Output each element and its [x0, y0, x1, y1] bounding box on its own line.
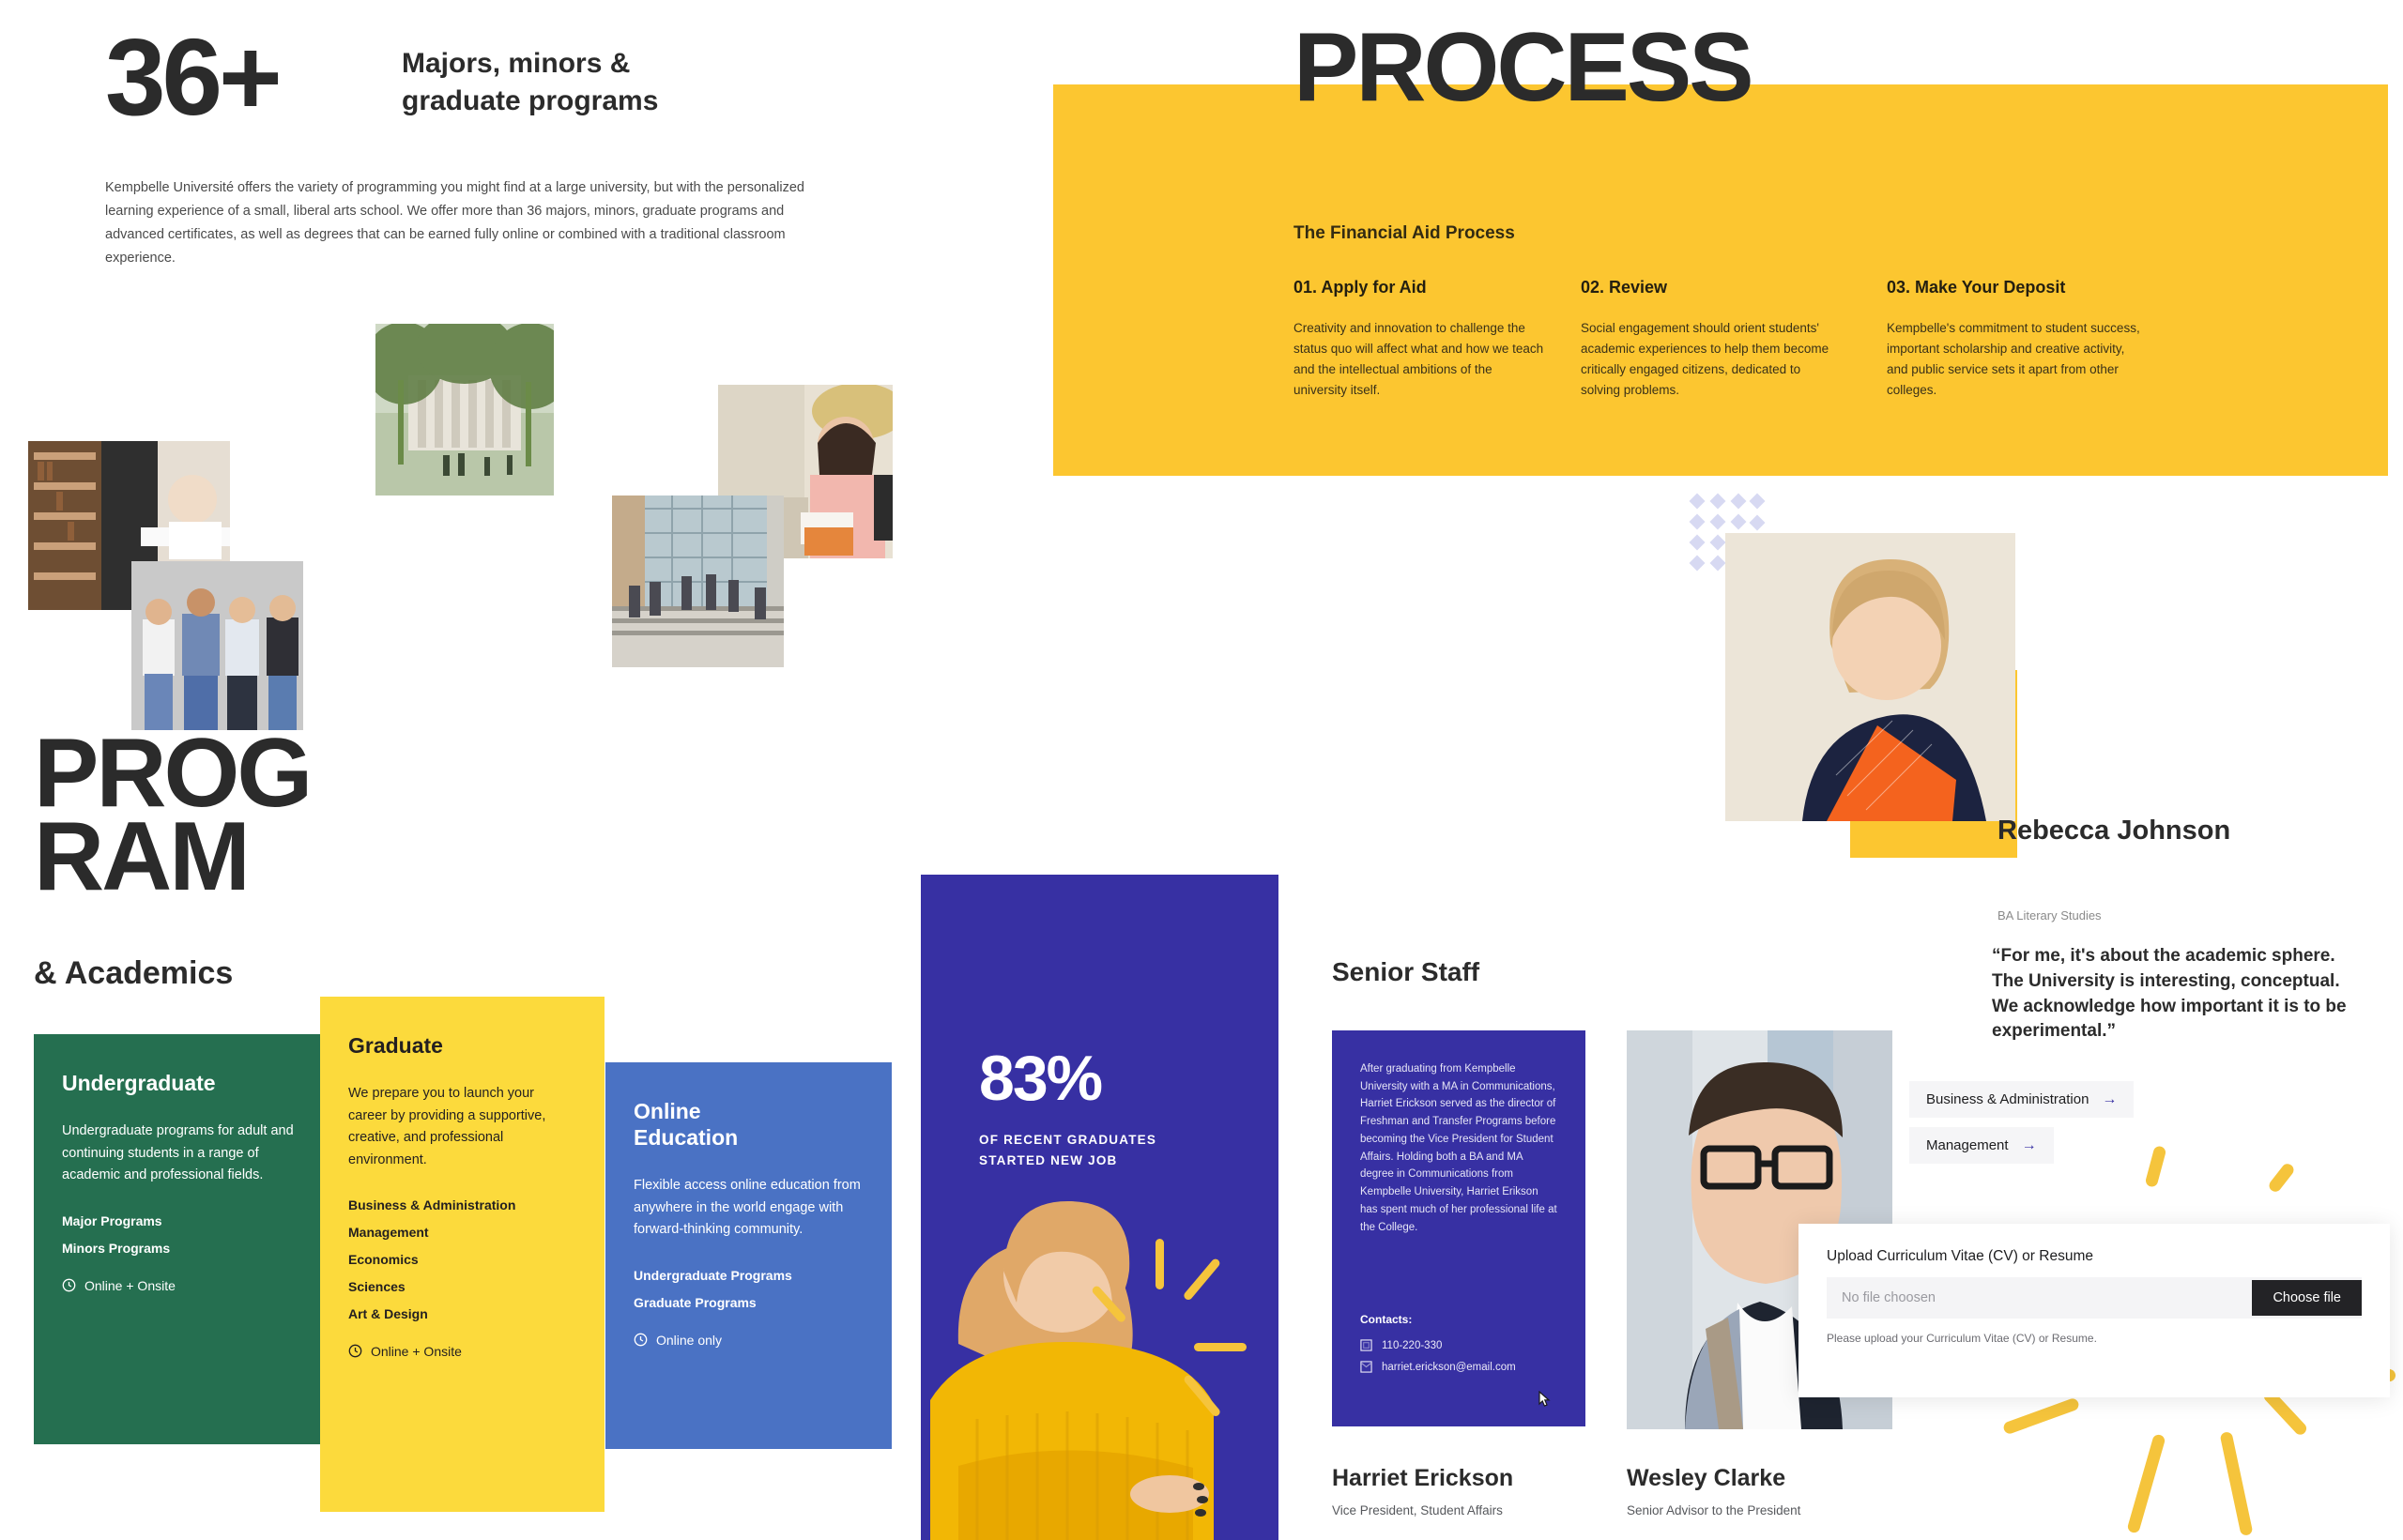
contacts-label: Contacts:	[1360, 1313, 1557, 1326]
card-title: Undergraduate	[62, 1070, 300, 1096]
card-mode-label: Online + Onsite	[371, 1344, 462, 1359]
stat-caption: OF RECENT GRADUATES STARTED NEW JOB	[979, 1130, 1156, 1170]
upload-cv-dialog: Upload Curriculum Vitae (CV) or Resume N…	[1798, 1224, 2390, 1397]
contact-email-row[interactable]: harriet.erickson@email.com	[1360, 1361, 1557, 1373]
program-card-graduate[interactable]: Graduate We prepare you to launch your c…	[320, 997, 605, 1512]
card-title: Graduate	[348, 1032, 576, 1059]
testimonial-quote: “For me, it's about the academic sphere.…	[1992, 944, 2367, 1044]
card-link[interactable]: Art & Design	[348, 1306, 576, 1321]
program-card-undergraduate[interactable]: Undergraduate Undergraduate programs for…	[34, 1034, 329, 1444]
card-description: Undergraduate programs for adult and con…	[62, 1121, 300, 1186]
file-name-value: No file choosen	[1842, 1290, 1936, 1305]
process-step-text: Creativity and innovation to challenge t…	[1293, 318, 1547, 402]
photo-campus-entrance	[612, 496, 784, 667]
card-mode-label: Online only	[656, 1333, 722, 1348]
program-card-online-education[interactable]: Online Education Flexible access online …	[605, 1062, 892, 1449]
bio-text: After graduating from Kempbelle Universi…	[1360, 1060, 1557, 1236]
testimonial-name: Rebecca Johnson	[1997, 816, 2230, 846]
stat-percent: 83%	[979, 1042, 1101, 1115]
senior-staff-bio-card[interactable]: After graduating from Kempbelle Universi…	[1332, 1030, 1585, 1426]
card-description: Flexible access online education from an…	[634, 1175, 864, 1241]
tag-label: Management	[1926, 1137, 2009, 1153]
card-link[interactable]: Undergraduate Programs	[634, 1268, 864, 1283]
card-link[interactable]: Minors Programs	[62, 1241, 300, 1256]
process-step-title: 02. Review	[1581, 278, 1834, 297]
staff-role: Vice President, Student Affairs	[1332, 1503, 1503, 1517]
card-link[interactable]: Sciences	[348, 1279, 576, 1294]
choose-file-button[interactable]: Choose file	[2252, 1280, 2362, 1316]
clock-icon	[348, 1344, 362, 1358]
process-step-text: Kempbelle's commitment to student succes…	[1887, 318, 2140, 402]
graduates-stat-panel: 83% OF RECENT GRADUATES STARTED NEW JOB	[921, 875, 1278, 1540]
stat-number-36plus: 36+	[105, 23, 279, 131]
stat-label: Majors, minors & graduate programs	[402, 45, 777, 119]
process-step-2: 02. Review Social engagement should orie…	[1581, 278, 1834, 402]
intro-paragraph: Kempbelle Université offers the variety …	[105, 176, 809, 270]
staff-name: Wesley Clarke	[1627, 1465, 1785, 1492]
tag-label: Business & Administration	[1926, 1091, 2089, 1107]
phone-icon	[1360, 1339, 1372, 1351]
process-step-title: 01. Apply for Aid	[1293, 278, 1547, 297]
senior-staff-title: Senior Staff	[1332, 957, 1479, 987]
card-title: Online Education	[634, 1098, 864, 1151]
process-step-title: 03. Make Your Deposit	[1887, 278, 2140, 297]
contact-phone-row[interactable]: 110-220-330	[1360, 1339, 1557, 1351]
process-step-1: 01. Apply for Aid Creativity and innovat…	[1293, 278, 1547, 402]
mouse-cursor-icon	[1535, 1391, 1554, 1411]
upload-dialog-title: Upload Curriculum Vitae (CV) or Resume	[1827, 1248, 2362, 1265]
card-description: We prepare you to launch your career by …	[348, 1083, 576, 1171]
contact-phone: 110-220-330	[1382, 1340, 1442, 1351]
upload-hint-text: Please upload your Curriculum Vitae (CV)…	[1827, 1332, 2362, 1345]
card-mode: Online + Onsite	[348, 1344, 576, 1359]
program-heading-line2: RAM	[34, 816, 310, 899]
process-heading: PROCESS	[1293, 19, 1752, 116]
arrow-right-icon: →	[2102, 1092, 2117, 1107]
process-step-text: Social engagement should orient students…	[1581, 318, 1834, 402]
clock-icon	[634, 1333, 648, 1347]
file-input-row[interactable]: No file choosen Choose file	[1827, 1277, 2362, 1319]
process-subtitle: The Financial Aid Process	[1293, 223, 1515, 244]
mail-icon	[1360, 1361, 1372, 1373]
card-link[interactable]: Major Programs	[62, 1213, 300, 1228]
card-mode: Online only	[634, 1333, 864, 1348]
card-link[interactable]: Economics	[348, 1252, 576, 1267]
process-step-3: 03. Make Your Deposit Kempbelle's commit…	[1887, 278, 2140, 402]
photo-rebecca-johnson	[1725, 533, 2015, 821]
photo-woman-yellow-sweater	[921, 1184, 1278, 1540]
staff-role: Senior Advisor to the President	[1627, 1503, 1800, 1517]
card-link[interactable]: Management	[348, 1225, 576, 1240]
staff-name: Harriet Erickson	[1332, 1465, 1513, 1492]
photo-campus-trees	[375, 324, 554, 496]
tag-business-administration[interactable]: Business & Administration →	[1909, 1081, 2134, 1118]
testimonial-degree: BA Literary Studies	[1997, 908, 2102, 922]
clock-icon	[62, 1278, 76, 1292]
card-link[interactable]: Business & Administration	[348, 1197, 576, 1212]
card-mode: Online + Onsite	[62, 1278, 300, 1293]
program-heading: PROG RAM	[34, 732, 310, 900]
card-mode-label: Online + Onsite	[84, 1278, 176, 1293]
program-subheading: & Academics	[34, 955, 233, 992]
card-link[interactable]: Graduate Programs	[634, 1295, 864, 1310]
contact-email: harriet.erickson@email.com	[1382, 1362, 1516, 1373]
photo-students-group	[131, 561, 303, 730]
